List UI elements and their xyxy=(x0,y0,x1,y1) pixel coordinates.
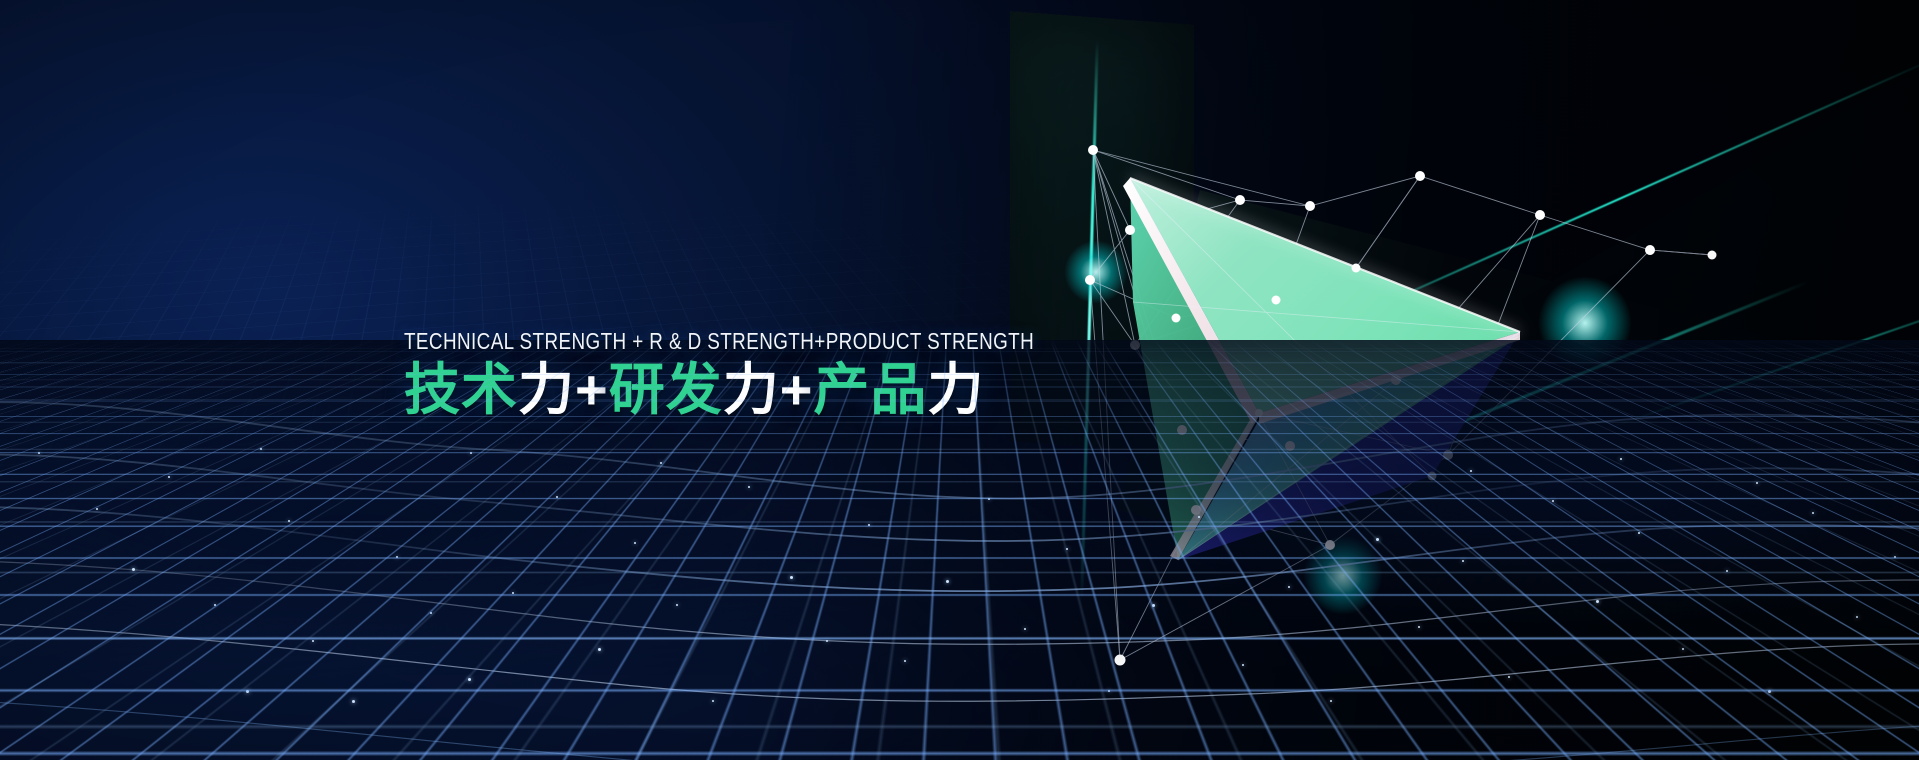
headline-segment-li-2: 力 xyxy=(723,358,780,423)
headline-chinese: 技术力+研发力+产品力 xyxy=(404,359,1172,423)
headline-english: TECHNICAL STRENGTH + R & D STRENGTH+PROD… xyxy=(404,328,1034,355)
headline-segment-plus-2: + xyxy=(780,358,814,421)
headline-segment-yanfa: 研发 xyxy=(609,358,723,423)
headline-segment-li-1: 力 xyxy=(518,358,575,423)
headline-segment-plus-1: + xyxy=(575,358,609,421)
headline-segment-li-3: 力 xyxy=(927,358,984,423)
headline-segment-jishu: 技术 xyxy=(404,358,518,423)
headline-block: TECHNICAL STRENGTH + R & D STRENGTH+PROD… xyxy=(404,328,1172,423)
hero-banner: TECHNICAL STRENGTH + R & D STRENGTH+PROD… xyxy=(0,0,1919,760)
headline-segment-chanpin: 产品 xyxy=(813,358,927,423)
